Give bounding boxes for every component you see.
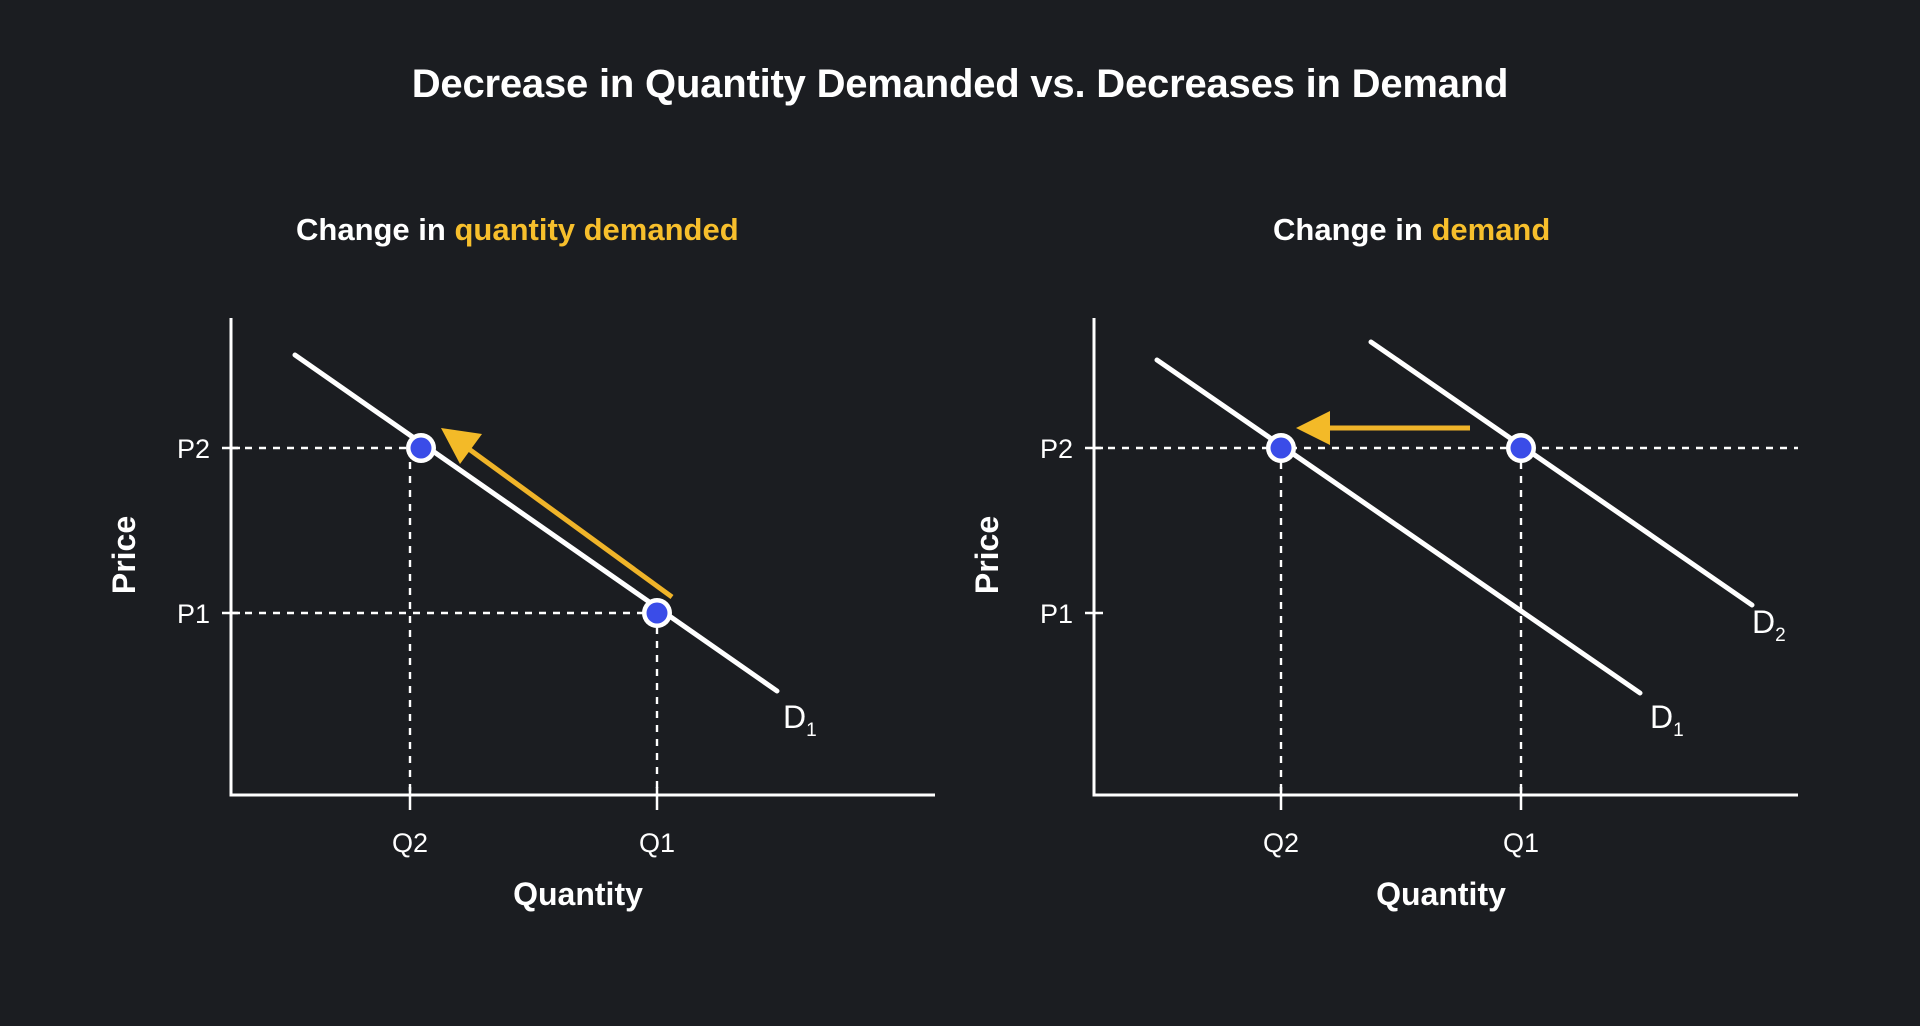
demand-curve-d1-left	[295, 355, 777, 691]
demand-curve-d1-right	[1157, 360, 1640, 693]
chart-right: P2 P1 Q2 Q1 Price Quantity D2 D1	[969, 318, 1798, 912]
curve-label-d1-left: D1	[783, 699, 817, 741]
charts-canvas: P2 P1 Q2 Q1 Price Quantity D1	[0, 0, 1920, 1026]
xlabel-q2-right: Q2	[1263, 828, 1299, 858]
ylabel-p2-left: P2	[177, 434, 210, 464]
point-q1-p2-right	[1506, 433, 1536, 463]
curve-label-d1-right: D1	[1650, 699, 1684, 741]
point-q1-p1-left	[642, 598, 672, 628]
x-axis-title-right: Quantity	[1376, 876, 1506, 912]
curve-label-d2-right: D2	[1752, 604, 1786, 646]
diagram-root: Decrease in Quantity Demanded vs. Decrea…	[0, 0, 1920, 1026]
arrow-shaft-left	[462, 444, 672, 597]
curve-label-d2-right-base: D	[1752, 604, 1775, 640]
point-q2-p2-right	[1266, 433, 1296, 463]
demand-curve-d2-right	[1371, 342, 1752, 605]
y-axis-title-right: Price	[969, 516, 1005, 594]
ylabel-p1-left: P1	[177, 599, 210, 629]
x-axis-title-left: Quantity	[513, 876, 643, 912]
chart-left: P2 P1 Q2 Q1 Price Quantity D1	[106, 318, 935, 912]
curve-label-d1-left-sub: 1	[806, 720, 817, 741]
y-axis-title-left: Price	[106, 516, 142, 594]
curve-label-d2-right-sub: 2	[1775, 625, 1786, 646]
xlabel-q1-right: Q1	[1503, 828, 1539, 858]
ylabel-p1-right: P1	[1040, 599, 1073, 629]
xlabel-q2-left: Q2	[392, 828, 428, 858]
curve-label-d1-right-sub: 1	[1673, 720, 1684, 741]
xlabel-q1-left: Q1	[639, 828, 675, 858]
curve-label-d1-left-base: D	[783, 699, 806, 735]
ylabel-p2-right: P2	[1040, 434, 1073, 464]
arrow-head-right	[1296, 411, 1330, 445]
point-q2-p2-left	[406, 433, 436, 463]
curve-label-d1-right-base: D	[1650, 699, 1673, 735]
